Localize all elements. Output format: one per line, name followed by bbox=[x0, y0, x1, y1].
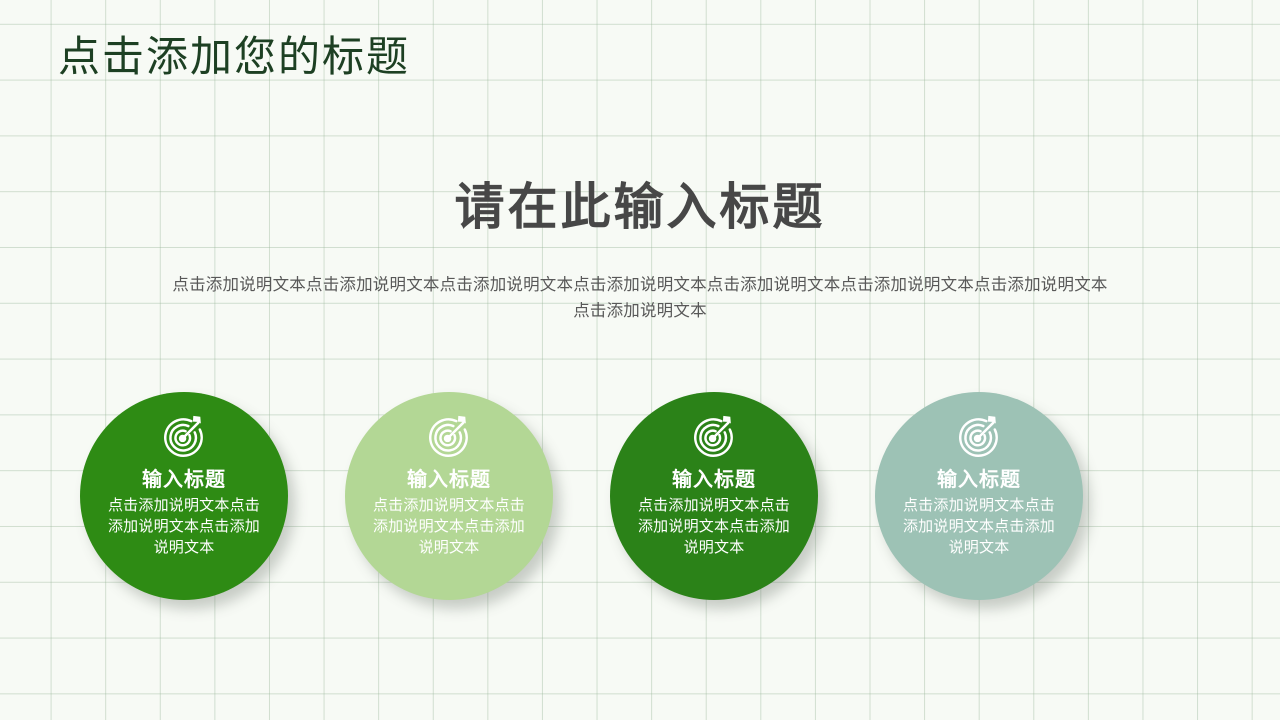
card-title: 输入标题 bbox=[937, 465, 1021, 495]
card-title: 输入标题 bbox=[672, 465, 756, 495]
main-heading[interactable]: 请在此输入标题 bbox=[0, 176, 1280, 238]
target-arrow-icon bbox=[691, 414, 737, 460]
card-body-text: 点击添加说明文本点击添加说明文本点击添加说明文本 bbox=[369, 495, 529, 558]
target-arrow-icon bbox=[956, 414, 1002, 460]
circle-card-1[interactable]: 输入标题 点击添加说明文本点击添加说明文本点击添加说明文本 bbox=[80, 392, 288, 600]
circle-card-2[interactable]: 输入标题 点击添加说明文本点击添加说明文本点击添加说明文本 bbox=[345, 392, 553, 600]
card-title: 输入标题 bbox=[142, 465, 226, 495]
slide-canvas: 点击添加您的标题 请在此输入标题 点击添加说明文本点击添加说明文本点击添加说明文… bbox=[0, 0, 1280, 720]
main-subtitle-text[interactable]: 点击添加说明文本点击添加说明文本点击添加说明文本点击添加说明文本点击添加说明文本… bbox=[170, 272, 1110, 324]
target-arrow-icon bbox=[426, 414, 472, 460]
card-body-text: 点击添加说明文本点击添加说明文本点击添加说明文本 bbox=[899, 495, 1059, 558]
page-title[interactable]: 点击添加您的标题 bbox=[58, 30, 410, 84]
circle-card-row: 输入标题 点击添加说明文本点击添加说明文本点击添加说明文本 bbox=[80, 392, 1088, 604]
target-arrow-icon bbox=[161, 414, 207, 460]
card-body-text: 点击添加说明文本点击添加说明文本点击添加说明文本 bbox=[104, 495, 264, 558]
card-title: 输入标题 bbox=[407, 465, 491, 495]
circle-card-4[interactable]: 输入标题 点击添加说明文本点击添加说明文本点击添加说明文本 bbox=[875, 392, 1083, 600]
circle-card-3[interactable]: 输入标题 点击添加说明文本点击添加说明文本点击添加说明文本 bbox=[610, 392, 818, 600]
card-body-text: 点击添加说明文本点击添加说明文本点击添加说明文本 bbox=[634, 495, 794, 558]
